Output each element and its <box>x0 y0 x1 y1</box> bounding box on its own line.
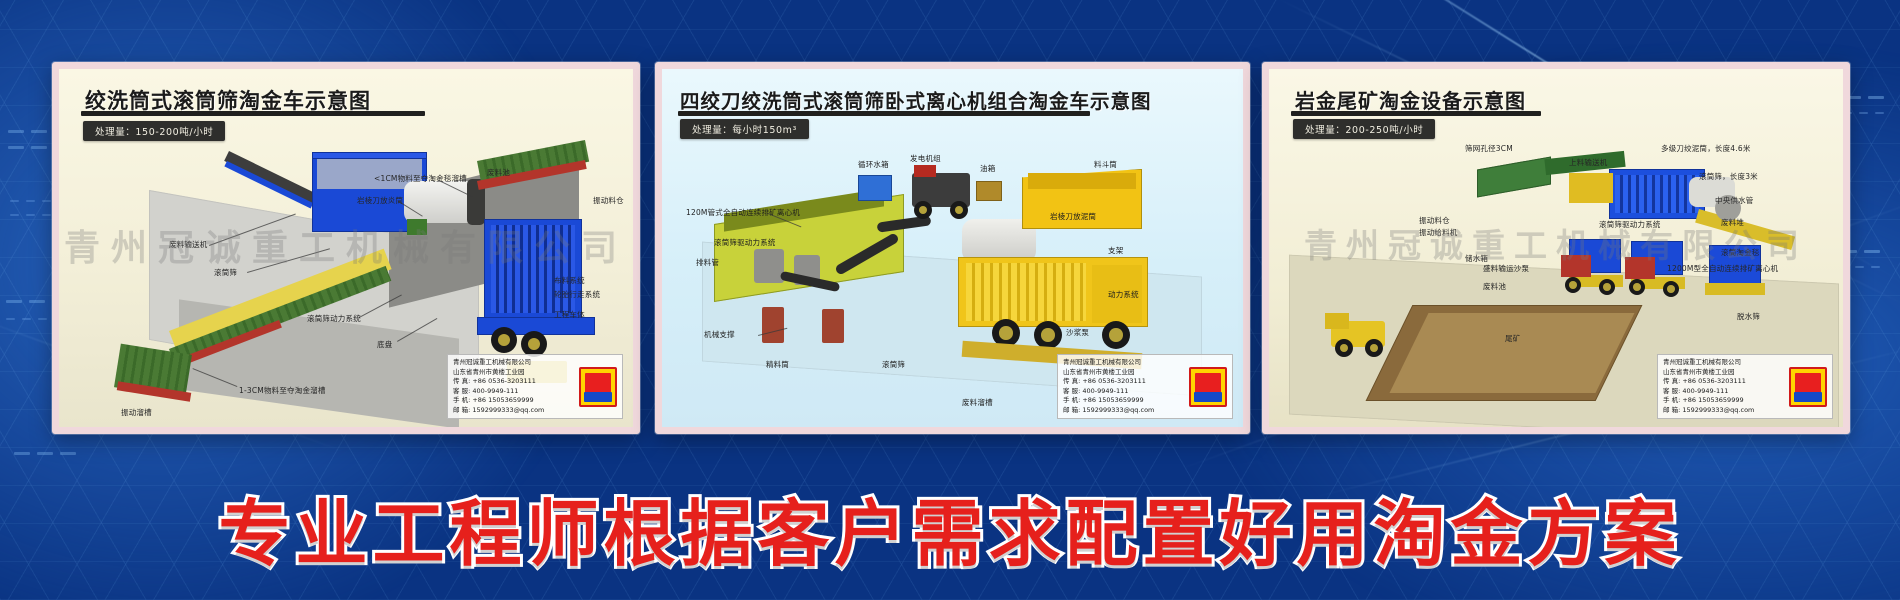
company-logo-icon <box>579 367 617 407</box>
callout-label: 振动溜槽 <box>121 409 152 417</box>
wheel <box>1034 321 1062 349</box>
callout-label: 滚筒筛动力系统 <box>307 315 361 323</box>
diagram-panel-3[interactable]: 筛网孔径3CM 多级刀绞泥筒，长度4.6米 上料输送机 滚筒筛，长度3米 中央供… <box>1262 62 1850 434</box>
wheel <box>1102 321 1130 349</box>
capacity-chip: 处理量：150-200吨/小时 <box>83 121 225 141</box>
company-logo-icon <box>1789 367 1827 407</box>
contact-company: 青州冠诚重工机械有限公司 <box>453 358 575 367</box>
headline-bar: 专业工程师根据客户需求配置好用淘金方案 <box>0 455 1900 600</box>
callout-label: <1CM物料至夺淘金毯溜槽 <box>374 175 467 183</box>
panel-1-artwork: 废料输送机 滚筒筛 岩棱刀放炎筒 <1CM物料至夺淘金毯溜槽 废料池 振动料仓 … <box>59 69 633 427</box>
wheel <box>521 331 547 357</box>
callout-label: 废料池 <box>1483 283 1506 291</box>
callout-label: 1-3CM物料至夺淘金溜槽 <box>239 387 326 395</box>
callout-label: 上料输送机 <box>1569 159 1608 167</box>
contact-line: 邮 箱: 1592999333@qq.com <box>1663 406 1785 415</box>
waste-conveyor <box>1695 209 1795 250</box>
callout-label: 精料筒 <box>766 361 789 369</box>
advertising-banner: 废料输送机 滚筒筛 岩棱刀放炎筒 <1CM物料至夺淘金毯溜槽 废料池 振动料仓 … <box>0 0 1900 600</box>
company-logo-icon <box>1189 367 1227 407</box>
trommel-top-rail <box>312 152 427 159</box>
callout-label: 尾矿 <box>1505 335 1520 343</box>
contact-address: 山东省青州市黄楼工业园 <box>453 368 575 377</box>
headline-text: 专业工程师根据客户需求配置好用淘金方案 <box>0 475 1900 580</box>
callout-label: 机械支撑 <box>704 331 735 339</box>
wheel <box>1365 339 1383 357</box>
panel-title: 岩金尾矿淘金设备示意图 <box>1295 85 1526 114</box>
callout-label: 动力系统 <box>1108 291 1139 299</box>
callout-label: 中央供水管 <box>1715 197 1754 205</box>
capacity-chip: 处理量：每小时150m³ <box>680 119 809 139</box>
contact-line: 客 服: 400-9949-111 <box>1663 387 1785 396</box>
wheel <box>1599 279 1615 295</box>
wheel <box>1335 339 1353 357</box>
callout-label: 振动料仓 <box>1419 217 1450 225</box>
callout-label: 滚筒筛驱动力系统 <box>714 239 776 247</box>
callout-label: 多级刀绞泥筒，长度4.6米 <box>1661 145 1751 153</box>
feed-conveyor <box>224 151 319 205</box>
hopper-lip <box>1028 173 1136 189</box>
wheel <box>1663 281 1679 297</box>
trommel-drum <box>404 181 476 223</box>
contact-company: 青州冠诚重工机械有限公司 <box>1663 358 1785 367</box>
callout-label: 脱水筛 <box>1737 313 1760 321</box>
callout-label: 岩棱刀放炎筒 <box>357 197 403 205</box>
dewatering-base <box>1705 283 1765 295</box>
contact-line: 客 服: 400-9949-111 <box>453 387 575 396</box>
screw-washer <box>1569 173 1613 203</box>
callout-label: 120M管式全自动连续排矿离心机 <box>686 209 800 217</box>
callout-label: 振动给料机 <box>1419 229 1458 237</box>
callout-label: 底盘 <box>377 341 392 349</box>
callout-label: 滚筒筛 <box>214 269 237 277</box>
loader-bucket <box>1325 313 1349 329</box>
callout-label: 废料溜槽 <box>962 399 993 407</box>
callout-label: 盛料输运沙泵 <box>1483 265 1529 273</box>
callout-label: 轮胎行走系统 <box>554 291 600 299</box>
generator-exhaust <box>914 165 936 177</box>
contact-card: 青州冠诚重工机械有限公司 山东省青州市黄楼工业园 传 真: +86 0536-3… <box>1057 354 1233 419</box>
feed-screen <box>1477 156 1551 197</box>
contact-line: 传 真: +86 0536-3203111 <box>1063 377 1185 386</box>
callout-label: 料斗筒 <box>1094 161 1117 169</box>
contact-line: 手 机: +86 15053659999 <box>453 396 575 405</box>
trommel-screen-mesh <box>1615 175 1699 213</box>
contact-line: 传 真: +86 0536-3203111 <box>453 377 575 386</box>
title-underline <box>678 111 1090 116</box>
drum-drive-motor <box>407 219 427 235</box>
fuel-tank <box>976 181 1002 201</box>
centrifuge-drum <box>754 249 784 283</box>
title-underline <box>1291 111 1541 116</box>
wheel <box>491 327 517 353</box>
callout-label: 废料堆 <box>1721 219 1744 227</box>
title-underline <box>81 111 425 116</box>
callout-label: 滚筒筛 <box>882 361 905 369</box>
callout-label: 废料输送机 <box>169 241 208 249</box>
panel-3-artwork: 筛网孔径3CM 多级刀绞泥筒，长度4.6米 上料输送机 滚筒筛，长度3米 中央供… <box>1269 69 1843 427</box>
panel-2-artwork: 120M管式全自动连续排矿离心机 循环水箱 发电机组 油箱 料斗筒 岩棱刀放泥筒… <box>662 69 1243 427</box>
callout-label: 筛网孔径3CM <box>1465 145 1513 153</box>
wheel <box>1565 277 1581 293</box>
capacity-chip: 处理量：200-250吨/小时 <box>1293 119 1435 139</box>
callout-label: 排料管 <box>696 259 719 267</box>
callout-label: 循环水箱 <box>858 161 889 169</box>
wheel <box>950 201 968 219</box>
contact-address: 山东省青州市黄楼工业园 <box>1663 368 1785 377</box>
callout-label: 滚筒筛，长度3米 <box>1699 173 1758 181</box>
contact-line: 客 服: 400-9949-111 <box>1063 387 1185 396</box>
callout-label: 支架 <box>1108 247 1123 255</box>
contact-card: 青州冠诚重工机械有限公司 山东省青州市黄楼工业园 传 真: +86 0536-3… <box>1657 354 1833 419</box>
callout-label: 发电机组 <box>910 155 941 163</box>
contact-line: 邮 箱: 1592999333@qq.com <box>1063 406 1185 415</box>
callout-label: 滚筒淘金毯 <box>1721 249 1760 257</box>
callout-label: 工程车体 <box>554 311 585 319</box>
contact-line: 传 真: +86 0536-3203111 <box>1663 377 1785 386</box>
callout-label: 储水箱 <box>1465 255 1488 263</box>
contact-company: 青州冠诚重工机械有限公司 <box>1063 358 1185 367</box>
collection-barrel <box>762 307 784 343</box>
contact-line: 邮 箱: 1592999333@qq.com <box>453 406 575 415</box>
contact-address: 山东省青州市黄楼工业园 <box>1063 368 1185 377</box>
callout-label: 1200M型全自动连续排矿离心机 <box>1667 265 1778 273</box>
callout-label: 布料系统 <box>554 277 585 285</box>
diagram-panel-1[interactable]: 废料输送机 滚筒筛 岩棱刀放炎筒 <1CM物料至夺淘金毯溜槽 废料池 振动料仓 … <box>52 62 640 434</box>
callout-label: 振动料仓 <box>593 197 624 205</box>
centrifuge-unit <box>1625 257 1655 279</box>
wheel <box>914 201 932 219</box>
centrifuge-unit <box>1561 255 1591 277</box>
diagram-panel-2[interactable]: 120M管式全自动连续排矿离心机 循环水箱 发电机组 油箱 料斗筒 岩棱刀放泥筒… <box>655 62 1250 434</box>
callout-label: 油箱 <box>980 165 995 173</box>
contact-line: 手 机: +86 15053659999 <box>1063 396 1185 405</box>
tailings-material <box>1389 313 1634 393</box>
diagram-panel-group: 废料输送机 滚筒筛 岩棱刀放炎筒 <1CM物料至夺淘金毯溜槽 废料池 振动料仓 … <box>0 0 1900 460</box>
wheel <box>1629 279 1645 295</box>
contact-card: 青州冠诚重工机械有限公司 山东省青州市黄楼工业园 传 真: +86 0536-3… <box>447 354 623 419</box>
callout-label: 岩棱刀放泥筒 <box>1050 213 1096 221</box>
callout-label: 废料池 <box>487 169 510 177</box>
panel-title: 四绞刀绞洗筒式滚筒筛卧式离心机组合淘金车示意图 <box>680 85 1152 114</box>
truck-side-grill <box>966 263 1086 321</box>
circulation-water-tank <box>858 175 892 201</box>
callout-label: 沙浆泵 <box>1066 329 1089 337</box>
vibrating-screen-deck <box>491 225 575 313</box>
collection-barrel <box>822 309 844 343</box>
callout-label: 滚筒筛驱动力系统 <box>1599 221 1661 229</box>
contact-line: 手 机: +86 15053659999 <box>1663 396 1785 405</box>
